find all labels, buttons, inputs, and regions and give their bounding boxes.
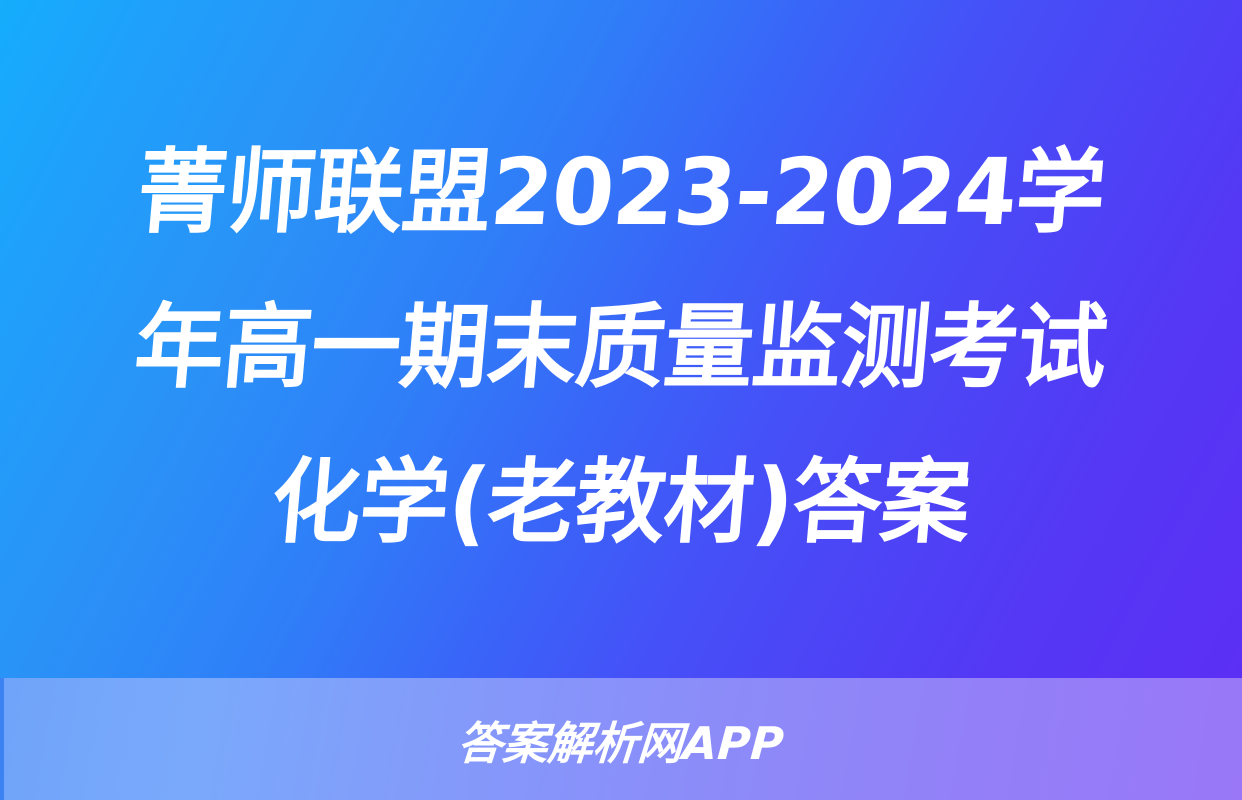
watermark-brand-text: 答案解析网APP (456, 707, 786, 772)
title-line-3: 化学(老教材)答案 (265, 425, 976, 580)
poster-container: 菁师联盟2023-2024学 年高一期末质量监测考试 化学(老教材)答案 答案解… (0, 0, 1242, 800)
watermark-container: 答案解析网APP (0, 678, 1242, 800)
title-line-2: 年高一期末质量监测考试 (129, 270, 1114, 425)
title-line-1: 菁师联盟2023-2024学 (131, 115, 1111, 270)
poster-title-block: 菁师联盟2023-2024学 年高一期末质量监测考试 化学(老教材)答案 (0, 0, 1242, 678)
